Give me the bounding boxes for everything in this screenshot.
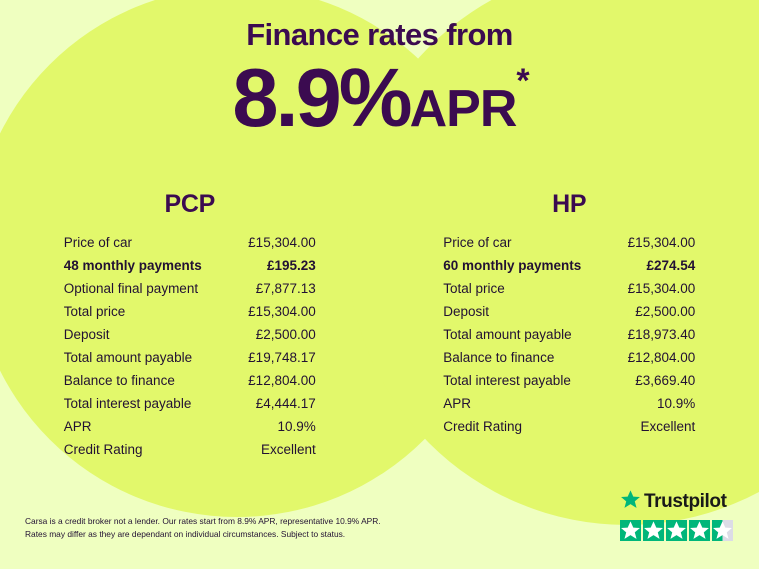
finance-plans: PCPPrice of car£15,304.0048 monthly paym…: [0, 190, 759, 465]
table-row: Total amount payable£19,748.17: [64, 350, 316, 373]
row-label: Deposit: [64, 327, 110, 342]
table-row: Total interest payable£4,444.17: [64, 396, 316, 419]
table-row: Balance to finance£12,804.00: [443, 350, 695, 373]
row-label: Total interest payable: [443, 373, 571, 388]
disclaimer: Carsa is a credit broker not a lender. O…: [25, 515, 425, 541]
trustpilot-wordmark: Trustpilot: [644, 491, 727, 513]
rate-display: 8.9% APR *: [0, 58, 759, 138]
table-row: Optional final payment£7,877.13: [64, 281, 316, 304]
table-row: Deposit£2,500.00: [443, 304, 695, 327]
row-label: Credit Rating: [443, 419, 522, 434]
disclaimer-line-1: Carsa is a credit broker not a lender. O…: [25, 515, 425, 528]
table-row: 48 monthly payments£195.23: [64, 258, 316, 281]
plan-title: HP: [552, 190, 586, 219]
table-row: Price of car£15,304.00: [64, 235, 316, 258]
row-label: Credit Rating: [64, 442, 143, 457]
rate-value: 8.9%: [232, 58, 409, 138]
disclaimer-line-2: Rates may differ as they are dependant o…: [25, 528, 425, 541]
row-label: 60 monthly payments: [443, 258, 581, 273]
row-label: Optional final payment: [64, 281, 198, 296]
row-value: £2,500.00: [635, 304, 695, 319]
row-label: Deposit: [443, 304, 489, 319]
row-value: Excellent: [640, 419, 695, 434]
promo-canvas: Finance rates from 8.9% APR * PCPPrice o…: [0, 0, 759, 569]
trustpilot-logo: Trustpilot: [620, 489, 733, 515]
table-row: Credit RatingExcellent: [64, 442, 316, 465]
row-value: £3,669.40: [635, 373, 695, 388]
rate-asterisk: *: [516, 64, 526, 98]
row-value: £12,804.00: [248, 373, 316, 388]
table-row: Deposit£2,500.00: [64, 327, 316, 350]
plan-title: PCP: [164, 190, 215, 219]
row-label: Total price: [443, 281, 505, 296]
row-value: £15,304.00: [248, 235, 316, 250]
row-value: £19,748.17: [248, 350, 316, 365]
row-value: £4,444.17: [256, 396, 316, 411]
header: Finance rates from 8.9% APR *: [0, 18, 759, 138]
table-row: Total amount payable£18,973.40: [443, 327, 695, 350]
row-value: Excellent: [261, 442, 316, 457]
plan-table: Price of car£15,304.0048 monthly payment…: [64, 235, 316, 465]
table-row: 60 monthly payments£274.54: [443, 258, 695, 281]
row-value: £15,304.00: [628, 235, 696, 250]
table-row: Total interest payable£3,669.40: [443, 373, 695, 396]
rating-star-full: [643, 520, 664, 541]
row-label: 48 monthly payments: [64, 258, 202, 273]
row-value: £274.54: [646, 258, 695, 273]
row-value: £15,304.00: [628, 281, 696, 296]
row-label: Price of car: [443, 235, 511, 250]
row-value: £7,877.13: [256, 281, 316, 296]
rating-star-half: [712, 520, 733, 541]
rating-star-full: [689, 520, 710, 541]
row-value: 10.9%: [657, 396, 695, 411]
plan-table: Price of car£15,304.0060 monthly payment…: [443, 235, 695, 442]
plan-column-pcp: PCPPrice of car£15,304.0048 monthly paym…: [0, 190, 380, 465]
row-label: Total amount payable: [64, 350, 192, 365]
row-value: £2,500.00: [256, 327, 316, 342]
row-label: Balance to finance: [64, 373, 175, 388]
row-value: £18,973.40: [628, 327, 696, 342]
row-value: £12,804.00: [628, 350, 696, 365]
row-label: APR: [64, 419, 92, 434]
row-label: Total price: [64, 304, 126, 319]
trustpilot-rating[interactable]: Trustpilot: [620, 489, 733, 541]
trustpilot-stars: [620, 520, 733, 541]
row-label: Price of car: [64, 235, 132, 250]
table-row: Price of car£15,304.00: [443, 235, 695, 258]
table-row: APR10.9%: [64, 419, 316, 442]
plan-column-hp: HPPrice of car£15,304.0060 monthly payme…: [380, 190, 759, 465]
row-value: £195.23: [267, 258, 316, 273]
rate-unit: APR: [410, 85, 517, 135]
page-title: Finance rates from: [0, 18, 759, 52]
trustpilot-star-icon: [620, 489, 641, 515]
table-row: APR10.9%: [443, 396, 695, 419]
row-value: £15,304.00: [248, 304, 316, 319]
table-row: Balance to finance£12,804.00: [64, 373, 316, 396]
row-value: 10.9%: [277, 419, 315, 434]
row-label: APR: [443, 396, 471, 411]
rating-star-full: [620, 520, 641, 541]
row-label: Total interest payable: [64, 396, 192, 411]
table-row: Total price£15,304.00: [443, 281, 695, 304]
table-row: Total price£15,304.00: [64, 304, 316, 327]
row-label: Total amount payable: [443, 327, 571, 342]
table-row: Credit RatingExcellent: [443, 419, 695, 442]
rating-star-full: [666, 520, 687, 541]
row-label: Balance to finance: [443, 350, 554, 365]
